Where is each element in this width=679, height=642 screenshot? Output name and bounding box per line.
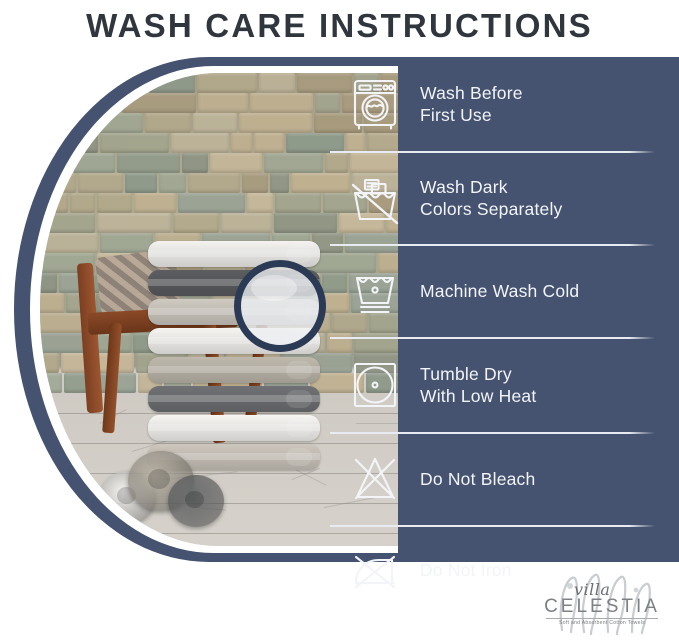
care-item-label: Wash Dark Colors Separately [420, 176, 563, 220]
do-not-iron-icon [330, 545, 420, 595]
magnifier-glare [251, 275, 297, 301]
care-item-machine-wash-cold[interactable]: Machine Wash Cold [330, 253, 679, 329]
logo-brand-name: CELESTIA [540, 596, 664, 618]
divider [330, 432, 655, 434]
logo-tagline: Soft and Absorbent Cotton Towels [540, 620, 664, 626]
do-not-bleach-triangle-icon [330, 452, 420, 506]
care-item-wash-dark-colors-separately[interactable]: Wash Dark Colors Separately [330, 160, 679, 236]
magnifier-circle [234, 260, 326, 352]
care-instruction-list: Wash Before First Use Wash Dark Colors S… [330, 57, 679, 562]
care-item-wash-before-first-use[interactable]: Wash Before First Use [330, 65, 679, 143]
tumble-dry-low-heat-icon [330, 358, 420, 412]
logo-divider [546, 618, 658, 619]
divider [330, 337, 655, 339]
page-title: WASH CARE INSTRUCTIONS [0, 0, 679, 52]
divider [330, 525, 655, 527]
care-item-label: Do Not Bleach [420, 468, 535, 490]
care-item-label: Machine Wash Cold [420, 280, 579, 302]
care-item-do-not-bleach[interactable]: Do Not Bleach [330, 441, 679, 517]
no-mixed-colors-basket-icon [330, 171, 420, 225]
wash-care-infographic: WASH CARE INSTRUCTIONS [0, 0, 679, 642]
divider [330, 151, 655, 153]
brand-logo: villa CELESTIA Soft and Absorbent Cotton… [528, 560, 676, 640]
care-item-tumble-dry-with-low-heat[interactable]: Tumble Dry With Low Heat [330, 346, 679, 424]
wash-tub-cold-icon [330, 264, 420, 318]
care-item-label: Tumble Dry With Low Heat [420, 363, 536, 407]
care-item-label: Wash Before First Use [420, 82, 523, 126]
washing-machine-icon [330, 77, 420, 131]
care-item-label: Do Not Iron [420, 559, 512, 581]
divider [330, 244, 655, 246]
